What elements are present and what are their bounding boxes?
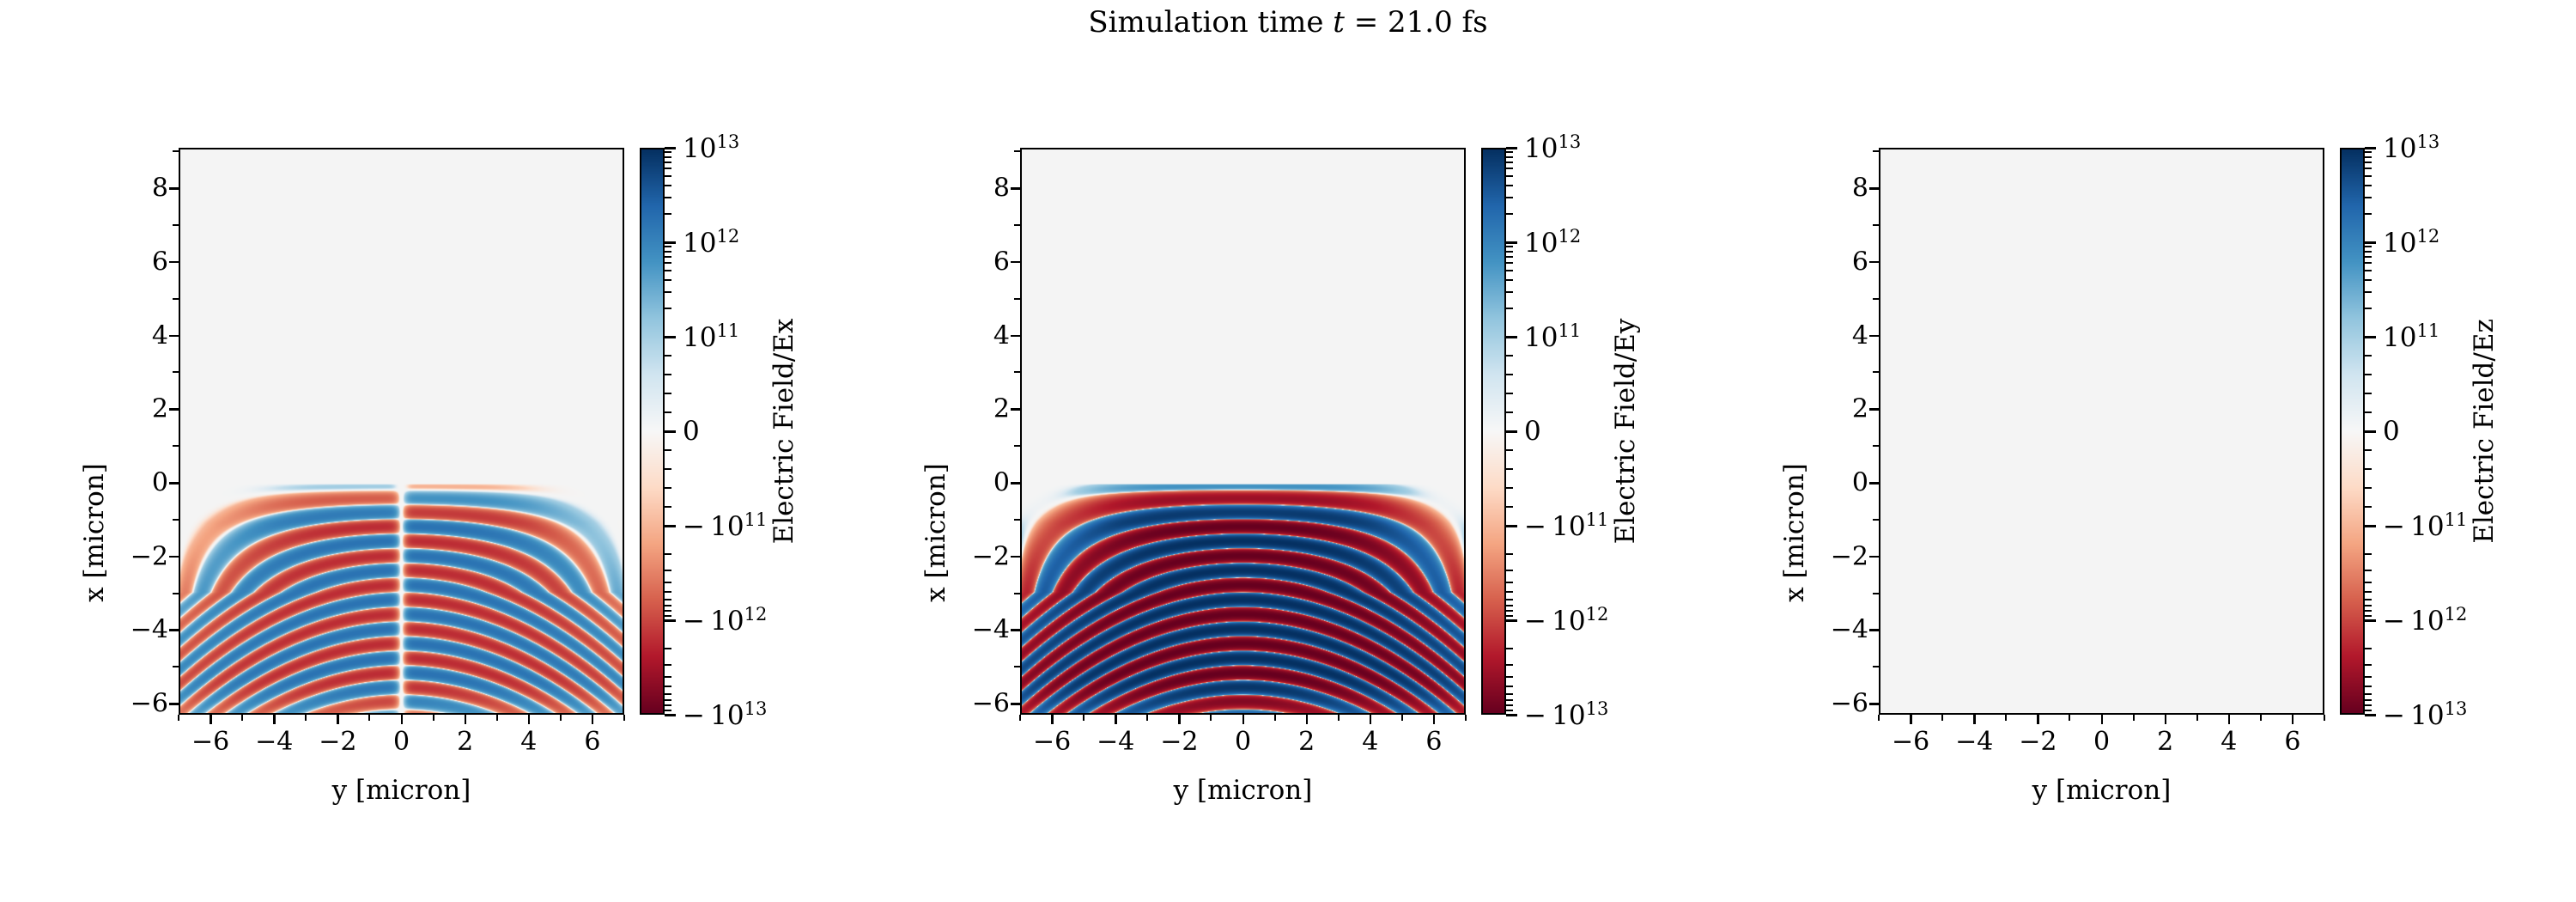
y-tick-major	[169, 703, 179, 705]
panel-ex: 86420−2−4−6−6−4−20246y [micron]x [micron…	[0, 0, 859, 902]
x-tick-label: 6	[584, 727, 600, 757]
x-tick-minor	[1465, 715, 1467, 721]
colorbar-tick-major	[665, 430, 676, 433]
colorbar-tick-label: 0	[1524, 416, 1541, 447]
y-axis-title-ex: x [micron]	[79, 249, 110, 816]
x-tick-label: 0	[2093, 727, 2110, 757]
x-tick-minor	[2069, 715, 2070, 721]
colorbar-tick-minor	[665, 251, 671, 253]
y-tick-minor	[1873, 666, 1879, 667]
x-tick-major	[1910, 715, 1912, 724]
colorbar-tick-major	[2365, 147, 2376, 149]
x-tick-label: −4	[255, 727, 293, 757]
colorbar-tick-minor	[1506, 270, 1513, 271]
y-tick-major	[1869, 556, 1879, 558]
colorbar-tick-minor	[665, 664, 671, 666]
colorbar-tick-minor	[2365, 686, 2372, 687]
colorbar-tick-minor	[1506, 610, 1513, 612]
field-image-ex	[180, 149, 623, 713]
colorbar-tick-major	[2365, 430, 2376, 433]
colorbar-tick-label: 1012	[683, 226, 739, 259]
y-axis-title-holder-ez: x [micron]	[1752, 148, 1786, 715]
x-tick-major	[1433, 715, 1436, 724]
colorbar-tick-minor	[2365, 213, 2372, 215]
x-tick-minor	[2196, 715, 2198, 721]
y-tick-major	[1869, 261, 1879, 264]
x-tick-minor	[2260, 715, 2262, 721]
y-tick-minor	[1873, 298, 1879, 300]
colorbar-tick-minor	[665, 185, 671, 186]
y-tick-major	[1011, 187, 1020, 190]
y-tick-minor	[173, 593, 179, 594]
colorbar-tick-minor	[2365, 591, 2372, 593]
field-image-ez	[1880, 149, 2323, 713]
y-axis-title-ey: x [micron]	[920, 249, 951, 816]
y-axis-title-holder-ex: x [micron]	[52, 148, 86, 715]
colorbar-gradient-ex	[641, 149, 663, 713]
x-tick-label: 6	[2284, 727, 2300, 757]
y-tick-major	[1011, 703, 1020, 705]
x-tick-major	[1973, 715, 1976, 724]
x-tick-label: −6	[1892, 727, 1929, 757]
plot-area-ez[interactable]	[1879, 148, 2324, 715]
colorbar-tick-major	[665, 147, 676, 149]
colorbar-tick-minor	[1506, 704, 1513, 706]
colorbar-tick-minor	[665, 615, 671, 617]
colorbar-tick-minor	[1506, 468, 1513, 470]
y-tick-label: 4	[993, 320, 1010, 350]
colorbar-tick-minor	[1506, 162, 1513, 163]
x-tick-major	[2037, 715, 2039, 724]
y-tick-label: −4	[1831, 615, 1868, 645]
x-tick-major	[1115, 715, 1117, 724]
y-tick-major	[169, 335, 179, 338]
y-tick-minor	[173, 666, 179, 667]
colorbar-tick-minor	[2365, 648, 2372, 649]
colorbar-tick-minor	[1506, 374, 1513, 375]
panel-ez: 86420−2−4−6−6−4−20246y [micron]x [micron…	[1700, 0, 2559, 902]
colorbar-tick-minor	[665, 291, 671, 293]
x-tick-minor	[178, 715, 179, 721]
colorbar-tick-minor	[2365, 162, 2372, 163]
colorbar-tick-minor	[2365, 599, 2372, 600]
y-tick-label: −2	[131, 541, 168, 571]
y-tick-major	[169, 187, 179, 190]
colorbar-tick-minor	[665, 262, 671, 264]
colorbar-title-ey: Electric Field/Ey	[1610, 148, 1641, 715]
x-tick-labels-ex: −6−4−20246	[179, 727, 624, 761]
colorbar-tick-label: − 1011	[2383, 509, 2467, 542]
colorbar-tick-major	[665, 619, 676, 622]
y-tick-minor	[1014, 150, 1020, 152]
colorbar-tick-minor	[1506, 693, 1513, 695]
colorbar-tick-minor	[2365, 291, 2372, 293]
colorbar-tick-minor	[2365, 308, 2372, 309]
colorbar-tick-minor	[665, 506, 671, 508]
y-tick-label: 8	[152, 174, 168, 204]
colorbar-tick-major	[665, 525, 676, 527]
y-tick-minor	[173, 371, 179, 373]
x-tick-minor	[1146, 715, 1148, 721]
y-tick-major	[1011, 261, 1020, 264]
colorbar-tick-minor	[1506, 710, 1513, 711]
colorbar-tick-major	[665, 714, 676, 716]
y-tick-major	[1869, 482, 1879, 485]
y-tick-major	[1011, 408, 1020, 411]
colorbar-tick-minor	[2365, 262, 2372, 264]
colorbar-tick-minor	[2365, 676, 2372, 678]
y-tick-minor	[1014, 445, 1020, 447]
y-tick-major	[169, 556, 179, 558]
x-tick-minor	[1878, 715, 1880, 721]
plot-area-ey[interactable]	[1020, 148, 1466, 715]
colorbar-tick-minor	[1506, 175, 1513, 177]
colorbar-tick-minor	[1506, 686, 1513, 687]
colorbar-tick-minor	[1506, 156, 1513, 158]
colorbar-tick-minor	[665, 162, 671, 163]
colorbar-tick-major	[1506, 619, 1517, 622]
y-tick-minor	[173, 224, 179, 226]
colorbar-tick-minor	[1506, 262, 1513, 264]
y-axis-title-ez: x [micron]	[1779, 249, 1810, 816]
colorbar-tick-minor	[2365, 393, 2372, 394]
y-tick-major	[1011, 556, 1020, 558]
colorbar-tick-minor	[1506, 591, 1513, 593]
y-tick-labels-ex: 86420−2−4−6	[103, 148, 168, 715]
x-tick-minor	[1019, 715, 1021, 721]
colorbar-tick-minor	[2365, 256, 2372, 258]
colorbar-tick-minor	[665, 699, 671, 701]
colorbar-tick-minor	[665, 279, 671, 281]
y-tick-label: 8	[1852, 174, 1868, 204]
colorbar-tick-minor	[665, 610, 671, 612]
colorbar-tick-minor	[665, 168, 671, 169]
colorbar-tick-minor	[1506, 487, 1513, 489]
colorbar-tick-label: − 1012	[1524, 604, 1608, 637]
colorbar-tick-minor	[1506, 251, 1513, 253]
colorbar-tick-label: − 1013	[2383, 698, 2467, 731]
colorbar-tick-label: − 1011	[683, 509, 767, 542]
x-tick-major	[2165, 715, 2167, 724]
colorbar-tick-minor	[2365, 468, 2372, 470]
y-tick-major	[169, 482, 179, 485]
colorbar-tick-minor	[665, 710, 671, 711]
colorbar-tick-minor	[665, 197, 671, 198]
colorbar-tick-minor	[2365, 605, 2372, 606]
colorbar-title-ez: Electric Field/Ez	[2469, 148, 2500, 715]
colorbar-tick-minor	[2365, 175, 2372, 177]
x-tick-major	[337, 715, 339, 724]
y-tick-minor	[1873, 371, 1879, 373]
colorbar-tick-minor	[665, 156, 671, 158]
colorbar-tick-minor	[665, 582, 671, 583]
colorbar-tick-minor	[1506, 449, 1513, 451]
colorbar-tick-minor	[2365, 570, 2372, 571]
y-tick-minor	[1014, 371, 1020, 373]
colorbar-tick-minor	[1506, 599, 1513, 600]
colorbar-tick-minor	[2365, 506, 2372, 508]
colorbar-tick-minor	[665, 468, 671, 470]
y-tick-label: 6	[152, 247, 168, 277]
colorbar-tick-minor	[665, 553, 671, 555]
colorbar-tick-minor	[1506, 615, 1513, 617]
y-tick-minor	[1014, 298, 1020, 300]
x-tick-minor	[305, 715, 307, 721]
colorbar-tick-minor	[1506, 570, 1513, 571]
colorbar-tick-major	[2365, 525, 2376, 527]
colorbar-tick-minor	[665, 393, 671, 394]
y-tick-minor	[1873, 519, 1879, 521]
y-tick-major	[169, 408, 179, 411]
colorbar-tick-label: 1012	[1524, 226, 1581, 259]
y-tick-label: −6	[131, 689, 168, 719]
x-tick-label: −6	[1033, 727, 1071, 757]
x-tick-label: 2	[457, 727, 473, 757]
colorbar-tick-minor	[2365, 411, 2372, 413]
x-tick-labels-ey: −6−4−20246	[1020, 727, 1466, 761]
colorbar-tick-minor	[2365, 279, 2372, 281]
colorbar-gradient-ez	[2342, 149, 2363, 713]
x-tick-major	[210, 715, 212, 724]
colorbar-tick-major	[665, 336, 676, 338]
colorbar-tick-minor	[665, 693, 671, 695]
colorbar-tick-minor	[2365, 664, 2372, 666]
colorbar-tick-minor	[2365, 246, 2372, 247]
y-tick-major	[1869, 629, 1879, 631]
colorbar-tick-label: 0	[683, 416, 700, 447]
colorbar-tick-minor	[665, 686, 671, 687]
x-tick-label: 4	[1362, 727, 1378, 757]
y-tick-label: −6	[1831, 689, 1868, 719]
colorbar-tick-minor	[665, 175, 671, 177]
colorbar-tick-minor	[2365, 449, 2372, 451]
colorbar-tick-minor	[665, 449, 671, 451]
y-tick-minor	[173, 445, 179, 447]
colorbar-tick-minor	[1506, 699, 1513, 701]
y-tick-minor	[173, 150, 179, 152]
colorbar-tick-minor	[1506, 168, 1513, 169]
x-tick-label: −2	[1160, 727, 1198, 757]
colorbar-tick-major	[1506, 147, 1517, 149]
colorbar-ey[interactable]	[1481, 148, 1506, 715]
colorbar-ez[interactable]	[2340, 148, 2365, 715]
y-tick-minor	[1014, 593, 1020, 594]
x-axis-title-ez: y [micron]	[1879, 775, 2324, 806]
colorbar-tick-minor	[665, 151, 671, 153]
colorbar-tick-minor	[2365, 168, 2372, 169]
field-image-ey	[1022, 149, 1464, 713]
colorbar-tick-label: 1013	[1524, 131, 1581, 164]
colorbar-tick-minor	[665, 256, 671, 258]
colorbar-tick-minor	[665, 355, 671, 357]
colorbar-tick-minor	[2365, 553, 2372, 555]
x-tick-minor	[623, 715, 625, 721]
colorbar-tick-minor	[2365, 710, 2372, 711]
colorbar-tick-label: − 1012	[683, 604, 767, 637]
x-tick-major	[401, 715, 404, 724]
y-tick-label: 4	[1852, 320, 1868, 350]
colorbar-tick-minor	[2365, 197, 2372, 198]
colorbar-tick-minor	[2365, 699, 2372, 701]
y-tick-label: −6	[972, 689, 1010, 719]
colorbar-tick-minor	[665, 704, 671, 706]
x-tick-major	[465, 715, 467, 724]
colorbar-title-ex: Electric Field/Ex	[769, 148, 799, 715]
colorbar-tick-label: 1013	[683, 131, 739, 164]
colorbar-tick-major	[665, 241, 676, 244]
colorbar-tick-label: 1012	[2383, 226, 2439, 259]
y-tick-minor	[1873, 593, 1879, 594]
colorbar-tick-minor	[665, 308, 671, 309]
colorbar-tick-major	[1506, 525, 1517, 527]
colorbar-tick-minor	[1506, 506, 1513, 508]
x-tick-minor	[1083, 715, 1084, 721]
x-tick-label: −2	[319, 727, 356, 757]
x-tick-major	[1178, 715, 1181, 724]
colorbar-tick-minor	[665, 599, 671, 600]
colorbar-tick-minor	[2365, 693, 2372, 695]
y-tick-label: 6	[993, 247, 1010, 277]
colorbar-tick-minor	[2365, 610, 2372, 612]
colorbar-tick-minor	[2365, 487, 2372, 489]
y-tick-label: 0	[152, 468, 168, 498]
x-tick-label: 6	[1425, 727, 1442, 757]
x-tick-major	[2101, 715, 2104, 724]
x-tick-minor	[1274, 715, 1276, 721]
y-tick-minor	[1014, 224, 1020, 226]
y-tick-minor	[173, 519, 179, 521]
colorbar-tick-major	[1506, 336, 1517, 338]
colorbar-tick-minor	[1506, 664, 1513, 666]
colorbar-tick-minor	[2365, 251, 2372, 253]
colorbar-tick-label: 1011	[683, 320, 739, 353]
colorbar-tick-label: − 1013	[683, 698, 767, 731]
colorbar-tick-major	[2365, 241, 2376, 244]
colorbar-tick-label: 1011	[2383, 320, 2439, 353]
x-axis-title-ey: y [micron]	[1020, 775, 1466, 806]
colorbar-title-holder-ey: Electric Field/Ey	[1608, 148, 1643, 715]
x-tick-minor	[1210, 715, 1212, 721]
x-tick-labels-ez: −6−4−20246	[1879, 727, 2324, 761]
colorbar-tick-minor	[1506, 256, 1513, 258]
colorbar-tick-major	[2365, 714, 2376, 716]
colorbar-tick-label: 1013	[2383, 131, 2439, 164]
y-tick-label: 0	[1852, 468, 1868, 498]
plot-area-ex[interactable]	[179, 148, 624, 715]
x-tick-major	[273, 715, 276, 724]
x-tick-minor	[2324, 715, 2325, 721]
x-tick-label: 0	[393, 727, 410, 757]
y-tick-label: −4	[972, 615, 1010, 645]
colorbar-tick-label: − 1011	[1524, 509, 1608, 542]
x-tick-minor	[2005, 715, 2007, 721]
x-tick-label: −4	[1955, 727, 1993, 757]
x-tick-major	[592, 715, 594, 724]
x-tick-major	[2292, 715, 2294, 724]
colorbar-tick-minor	[1506, 213, 1513, 215]
x-tick-major	[1242, 715, 1245, 724]
y-tick-major	[169, 629, 179, 631]
colorbar-tick-minor	[665, 676, 671, 678]
colorbar-tick-minor	[1506, 308, 1513, 309]
y-tick-major	[1869, 335, 1879, 338]
x-tick-minor	[1401, 715, 1403, 721]
y-tick-minor	[173, 298, 179, 300]
colorbar-tick-minor	[2365, 704, 2372, 706]
x-tick-major	[1051, 715, 1054, 724]
panel-ey: 86420−2−4−6−6−4−20246y [micron]x [micron…	[841, 0, 1700, 902]
colorbar-title-holder-ez: Electric Field/Ez	[2467, 148, 2501, 715]
y-tick-label: 0	[993, 468, 1010, 498]
y-tick-label: 2	[152, 394, 168, 424]
y-tick-major	[1011, 482, 1020, 485]
colorbar-tick-minor	[2365, 374, 2372, 375]
colorbar-tick-minor	[1506, 279, 1513, 281]
colorbar-tick-major	[1506, 430, 1517, 433]
y-tick-label: −4	[131, 615, 168, 645]
colorbar-tick-minor	[2365, 615, 2372, 617]
y-tick-minor	[1873, 445, 1879, 447]
y-tick-label: 8	[993, 174, 1010, 204]
colorbar-tick-minor	[1506, 411, 1513, 413]
y-tick-label: 4	[152, 320, 168, 350]
colorbar-tick-minor	[2365, 582, 2372, 583]
y-tick-major	[169, 261, 179, 264]
y-tick-major	[1011, 335, 1020, 338]
colorbar-tick-minor	[665, 270, 671, 271]
colorbar-tick-label: − 1013	[1524, 698, 1608, 731]
colorbar-tick-minor	[2365, 156, 2372, 158]
colorbar-tick-minor	[1506, 605, 1513, 606]
x-tick-label: 4	[520, 727, 537, 757]
colorbar-tick-label: 0	[2383, 416, 2400, 447]
y-tick-labels-ez: 86420−2−4−6	[1803, 148, 1868, 715]
colorbar-tick-minor	[665, 246, 671, 247]
colorbar-tick-minor	[2365, 270, 2372, 271]
colorbar-tick-minor	[1506, 151, 1513, 153]
y-tick-labels-ey: 86420−2−4−6	[945, 148, 1010, 715]
colorbar-tick-minor	[665, 570, 671, 571]
y-tick-label: 2	[993, 394, 1010, 424]
x-tick-major	[528, 715, 531, 724]
y-tick-major	[1869, 408, 1879, 411]
colorbar-tick-minor	[1506, 648, 1513, 649]
colorbar-tick-minor	[665, 591, 671, 593]
y-tick-minor	[1873, 224, 1879, 226]
colorbar-tick-minor	[665, 213, 671, 215]
x-tick-minor	[2133, 715, 2135, 721]
x-tick-minor	[433, 715, 434, 721]
x-tick-minor	[368, 715, 370, 721]
colorbar-tick-label: 1011	[1524, 320, 1581, 353]
x-tick-minor	[496, 715, 498, 721]
x-tick-major	[2228, 715, 2231, 724]
y-axis-title-holder-ey: x [micron]	[893, 148, 927, 715]
colorbar-tick-minor	[2365, 151, 2372, 153]
x-tick-major	[1306, 715, 1309, 724]
y-tick-label: 6	[1852, 247, 1868, 277]
x-axis-title-ex: y [micron]	[179, 775, 624, 806]
y-tick-label: 2	[1852, 394, 1868, 424]
colorbar-tick-major	[2365, 619, 2376, 622]
colorbar-tick-label: − 1012	[2383, 604, 2467, 637]
colorbar-tick-minor	[665, 411, 671, 413]
colorbar-tick-minor	[665, 605, 671, 606]
y-tick-minor	[1014, 519, 1020, 521]
x-tick-minor	[560, 715, 562, 721]
x-tick-minor	[241, 715, 243, 721]
colorbar-ex[interactable]	[640, 148, 665, 715]
